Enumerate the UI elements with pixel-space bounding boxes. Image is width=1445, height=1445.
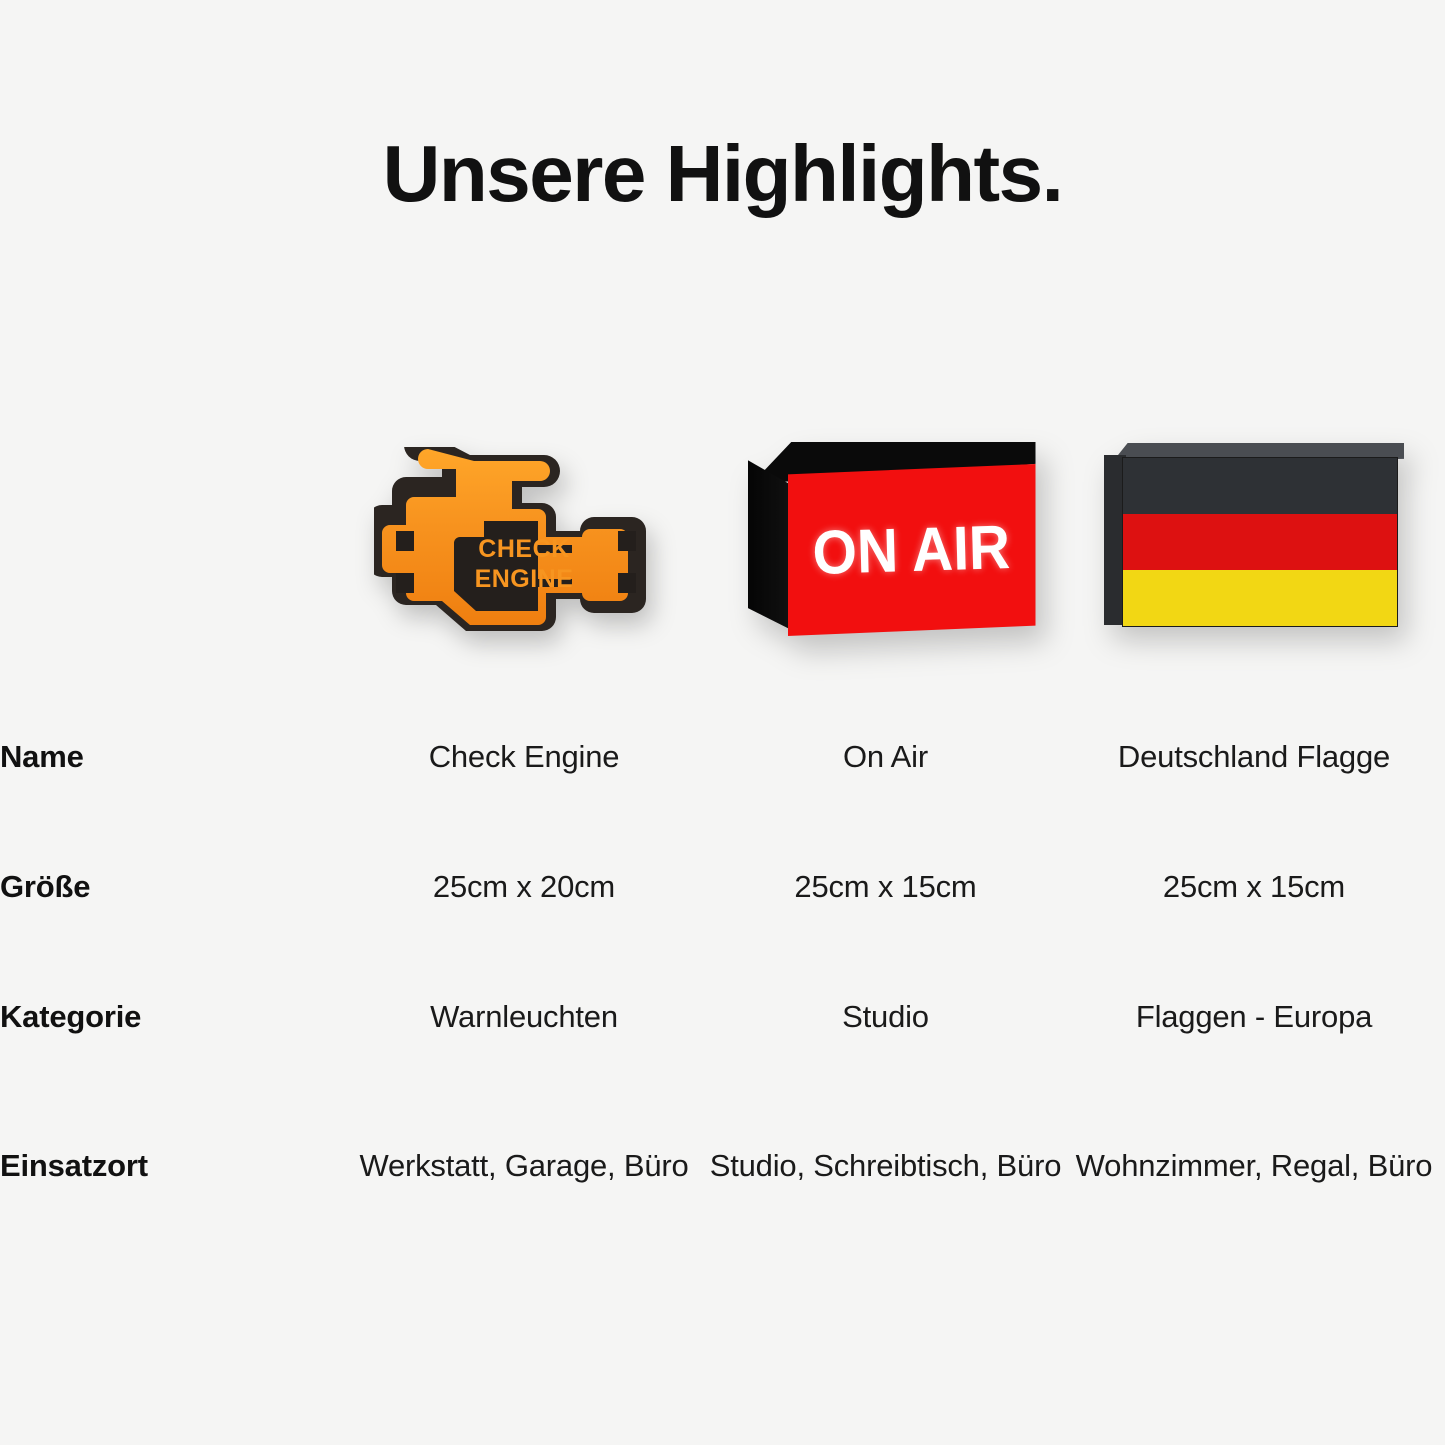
cell-groesse-on-air: 25cm x 15cm: [708, 822, 1063, 952]
product-image-row: CHECK ENGINE ON AIR: [0, 415, 1445, 665]
row-label-name: Name: [0, 692, 340, 822]
table-row: Einsatzort Werkstatt, Garage, Büro Studi…: [0, 1082, 1445, 1250]
row-label-groesse: Größe: [0, 822, 340, 952]
row-label-kategorie: Kategorie: [0, 952, 340, 1082]
cell-kategorie-check-engine: Warnleuchten: [340, 952, 708, 1082]
row-label-einsatzort: Einsatzort: [0, 1082, 340, 1250]
cell-groesse-flagge: 25cm x 15cm: [1063, 822, 1445, 952]
on-air-box-front-face: ON AIR: [788, 464, 1036, 636]
page-title: Unsere Highlights.: [0, 132, 1445, 216]
product-image-on-air[interactable]: ON AIR: [708, 415, 1063, 665]
on-air-label: ON AIR: [812, 512, 1011, 589]
cell-name-flagge: Deutschland Flagge: [1063, 692, 1445, 822]
cell-name-check-engine: Check Engine: [340, 692, 708, 822]
on-air-lightbox-icon: ON AIR: [736, 442, 1036, 647]
flag-stripe-black: [1123, 458, 1397, 514]
cell-einsatzort-on-air: Studio, Schreibtisch, Büro: [708, 1082, 1063, 1250]
table-row: Name Check Engine On Air Deutschland Fla…: [0, 692, 1445, 822]
table-row: Kategorie Warnleuchten Studio Flaggen - …: [0, 952, 1445, 1082]
german-flag-lightbox-icon: [1104, 443, 1404, 643]
cell-kategorie-flagge: Flaggen - Europa: [1063, 952, 1445, 1082]
cell-name-on-air: On Air: [708, 692, 1063, 822]
flag-box-front-face: [1122, 457, 1398, 627]
flag-stripe-gold: [1123, 570, 1397, 626]
image-row-label-spacer: [0, 415, 340, 665]
product-image-deutschland-flagge[interactable]: [1063, 415, 1445, 665]
cell-kategorie-on-air: Studio: [708, 952, 1063, 1082]
cell-groesse-check-engine: 25cm x 20cm: [340, 822, 708, 952]
cell-einsatzort-check-engine: Werkstatt, Garage, Büro: [340, 1082, 708, 1250]
table-row: Größe 25cm x 20cm 25cm x 15cm 25cm x 15c…: [0, 822, 1445, 952]
check-engine-lamp-icon: CHECK ENGINE: [374, 447, 674, 665]
highlights-page: Unsere Highlights.: [0, 0, 1445, 1445]
product-image-check-engine[interactable]: CHECK ENGINE: [340, 415, 708, 665]
flag-stripe-red: [1123, 514, 1397, 570]
product-comparison-table: Name Check Engine On Air Deutschland Fla…: [0, 692, 1445, 1250]
cell-einsatzort-flagge: Wohnzimmer, Regal, Büro: [1063, 1082, 1445, 1250]
